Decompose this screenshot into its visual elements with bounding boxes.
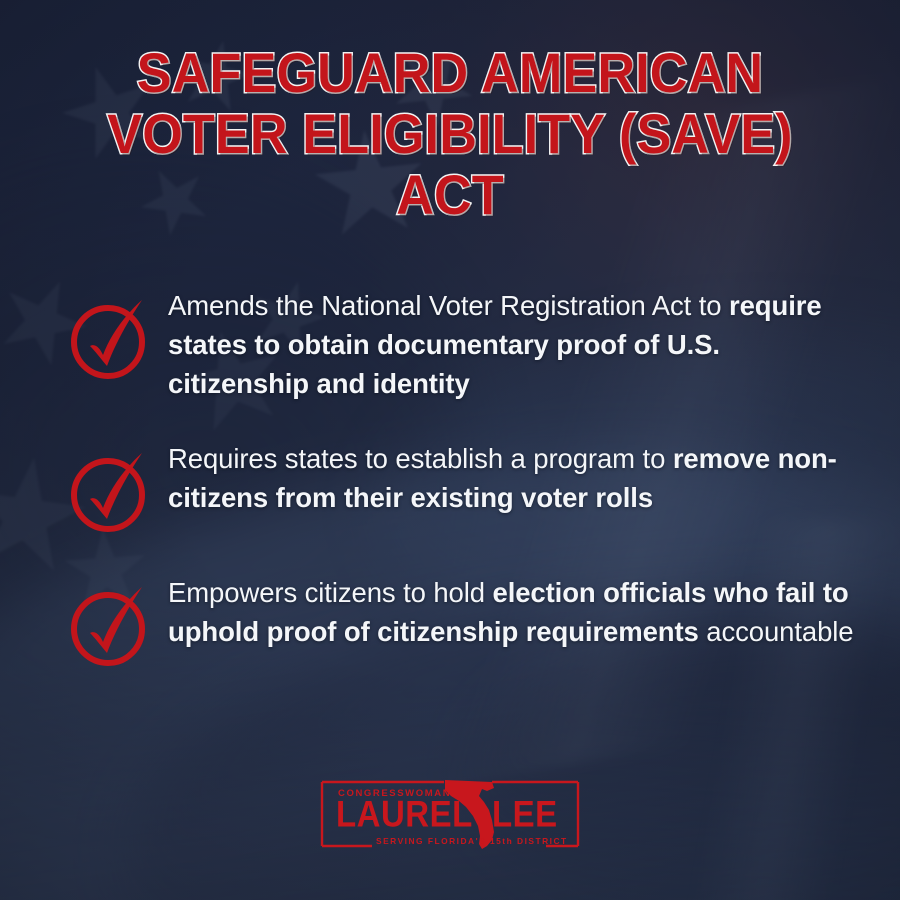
title-line-3: ACT bbox=[84, 166, 817, 225]
bullet-list: Amends the National Voter Registration A… bbox=[62, 278, 860, 701]
logo-name-last: LEE bbox=[492, 794, 558, 835]
poster-title: SAFEGUARD AMERICAN VOTER ELIGIBILITY (SA… bbox=[0, 44, 900, 226]
text-run-regular: Requires states to establish a program t… bbox=[168, 443, 673, 474]
check-circle-icon bbox=[62, 443, 158, 539]
text-run-regular: accountable bbox=[699, 616, 854, 647]
logo-name-first: LAUREL bbox=[336, 794, 473, 835]
list-item: Amends the National Voter Registration A… bbox=[62, 278, 860, 403]
text-run-regular: Amends the National Voter Registration A… bbox=[168, 290, 729, 321]
list-item-text: Requires states to establish a program t… bbox=[168, 431, 860, 517]
title-line-2: VOTER ELIGIBILITY (SAVE) bbox=[84, 105, 817, 164]
logo-tagline: SERVING FLORIDA'S 15th DISTRICT bbox=[376, 836, 568, 846]
laurel-lee-logo[interactable]: CONGRESSWOMAN LAUREL LEE SERVING FLORIDA… bbox=[316, 776, 584, 852]
check-circle-icon bbox=[62, 577, 158, 673]
list-item-text: Empowers citizens to hold election offic… bbox=[168, 565, 860, 651]
title-line-1: SAFEGUARD AMERICAN bbox=[84, 44, 817, 103]
list-item: Requires states to establish a program t… bbox=[62, 431, 860, 539]
check-circle-icon bbox=[62, 290, 158, 386]
save-act-poster: SAFEGUARD AMERICAN VOTER ELIGIBILITY (SA… bbox=[0, 0, 900, 900]
list-item: Empowers citizens to hold election offic… bbox=[62, 565, 860, 673]
list-item-text: Amends the National Voter Registration A… bbox=[168, 278, 860, 403]
text-run-regular: Empowers citizens to hold bbox=[168, 577, 493, 608]
